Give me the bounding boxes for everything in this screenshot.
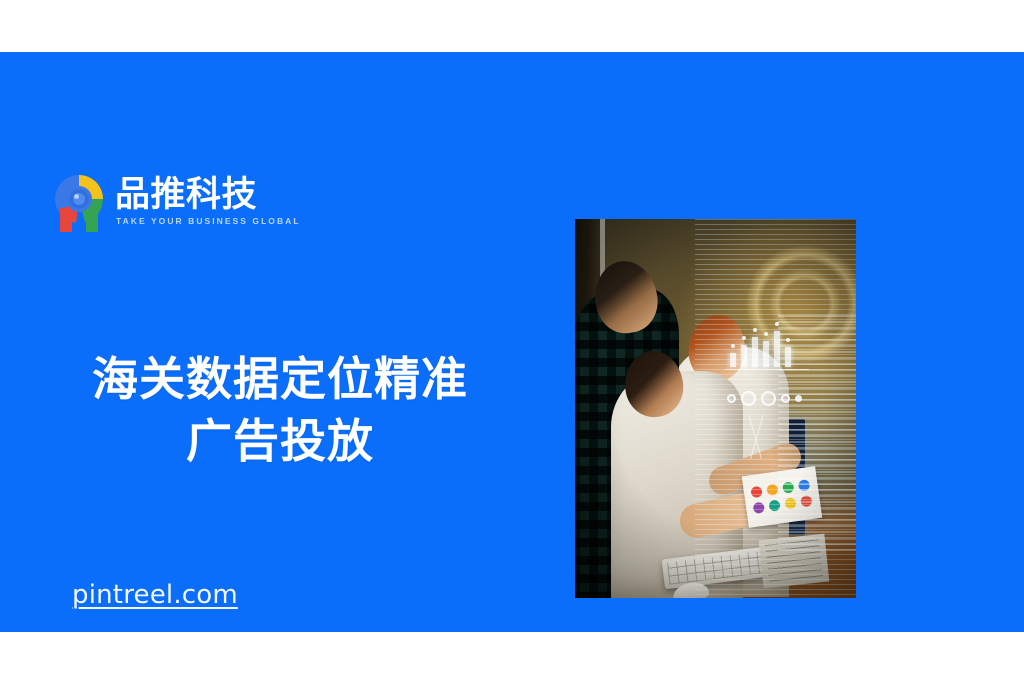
blue-stage: 品推科技 TAKE YOUR BUSINESS GLOBAL 海关数据定位精准 … [0, 52, 1024, 632]
photo-vignette [575, 219, 856, 598]
slide-canvas: 品推科技 TAKE YOUR BUSINESS GLOBAL 海关数据定位精准 … [0, 0, 1024, 683]
brand-name-cn: 品推科技 [115, 176, 257, 214]
hero-photo-image [575, 219, 856, 598]
headline-line-1: 海关数据定位精准 [70, 348, 490, 410]
headline-line-2: 广告投放 [70, 410, 490, 472]
brand-tagline: TAKE YOUR BUSINESS GLOBAL [115, 216, 301, 227]
brand-logo[interactable]: 品推科技 TAKE YOUR BUSINESS GLOBAL [52, 172, 301, 234]
page-title: 海关数据定位精准 广告投放 [70, 348, 490, 472]
pintreel-p-monogram-icon [52, 172, 106, 234]
brand-wordmark: 品推科技 TAKE YOUR BUSINESS GLOBAL [115, 172, 301, 227]
hero-photo [575, 219, 856, 598]
website-url-link[interactable]: pintreel.com [72, 580, 238, 610]
